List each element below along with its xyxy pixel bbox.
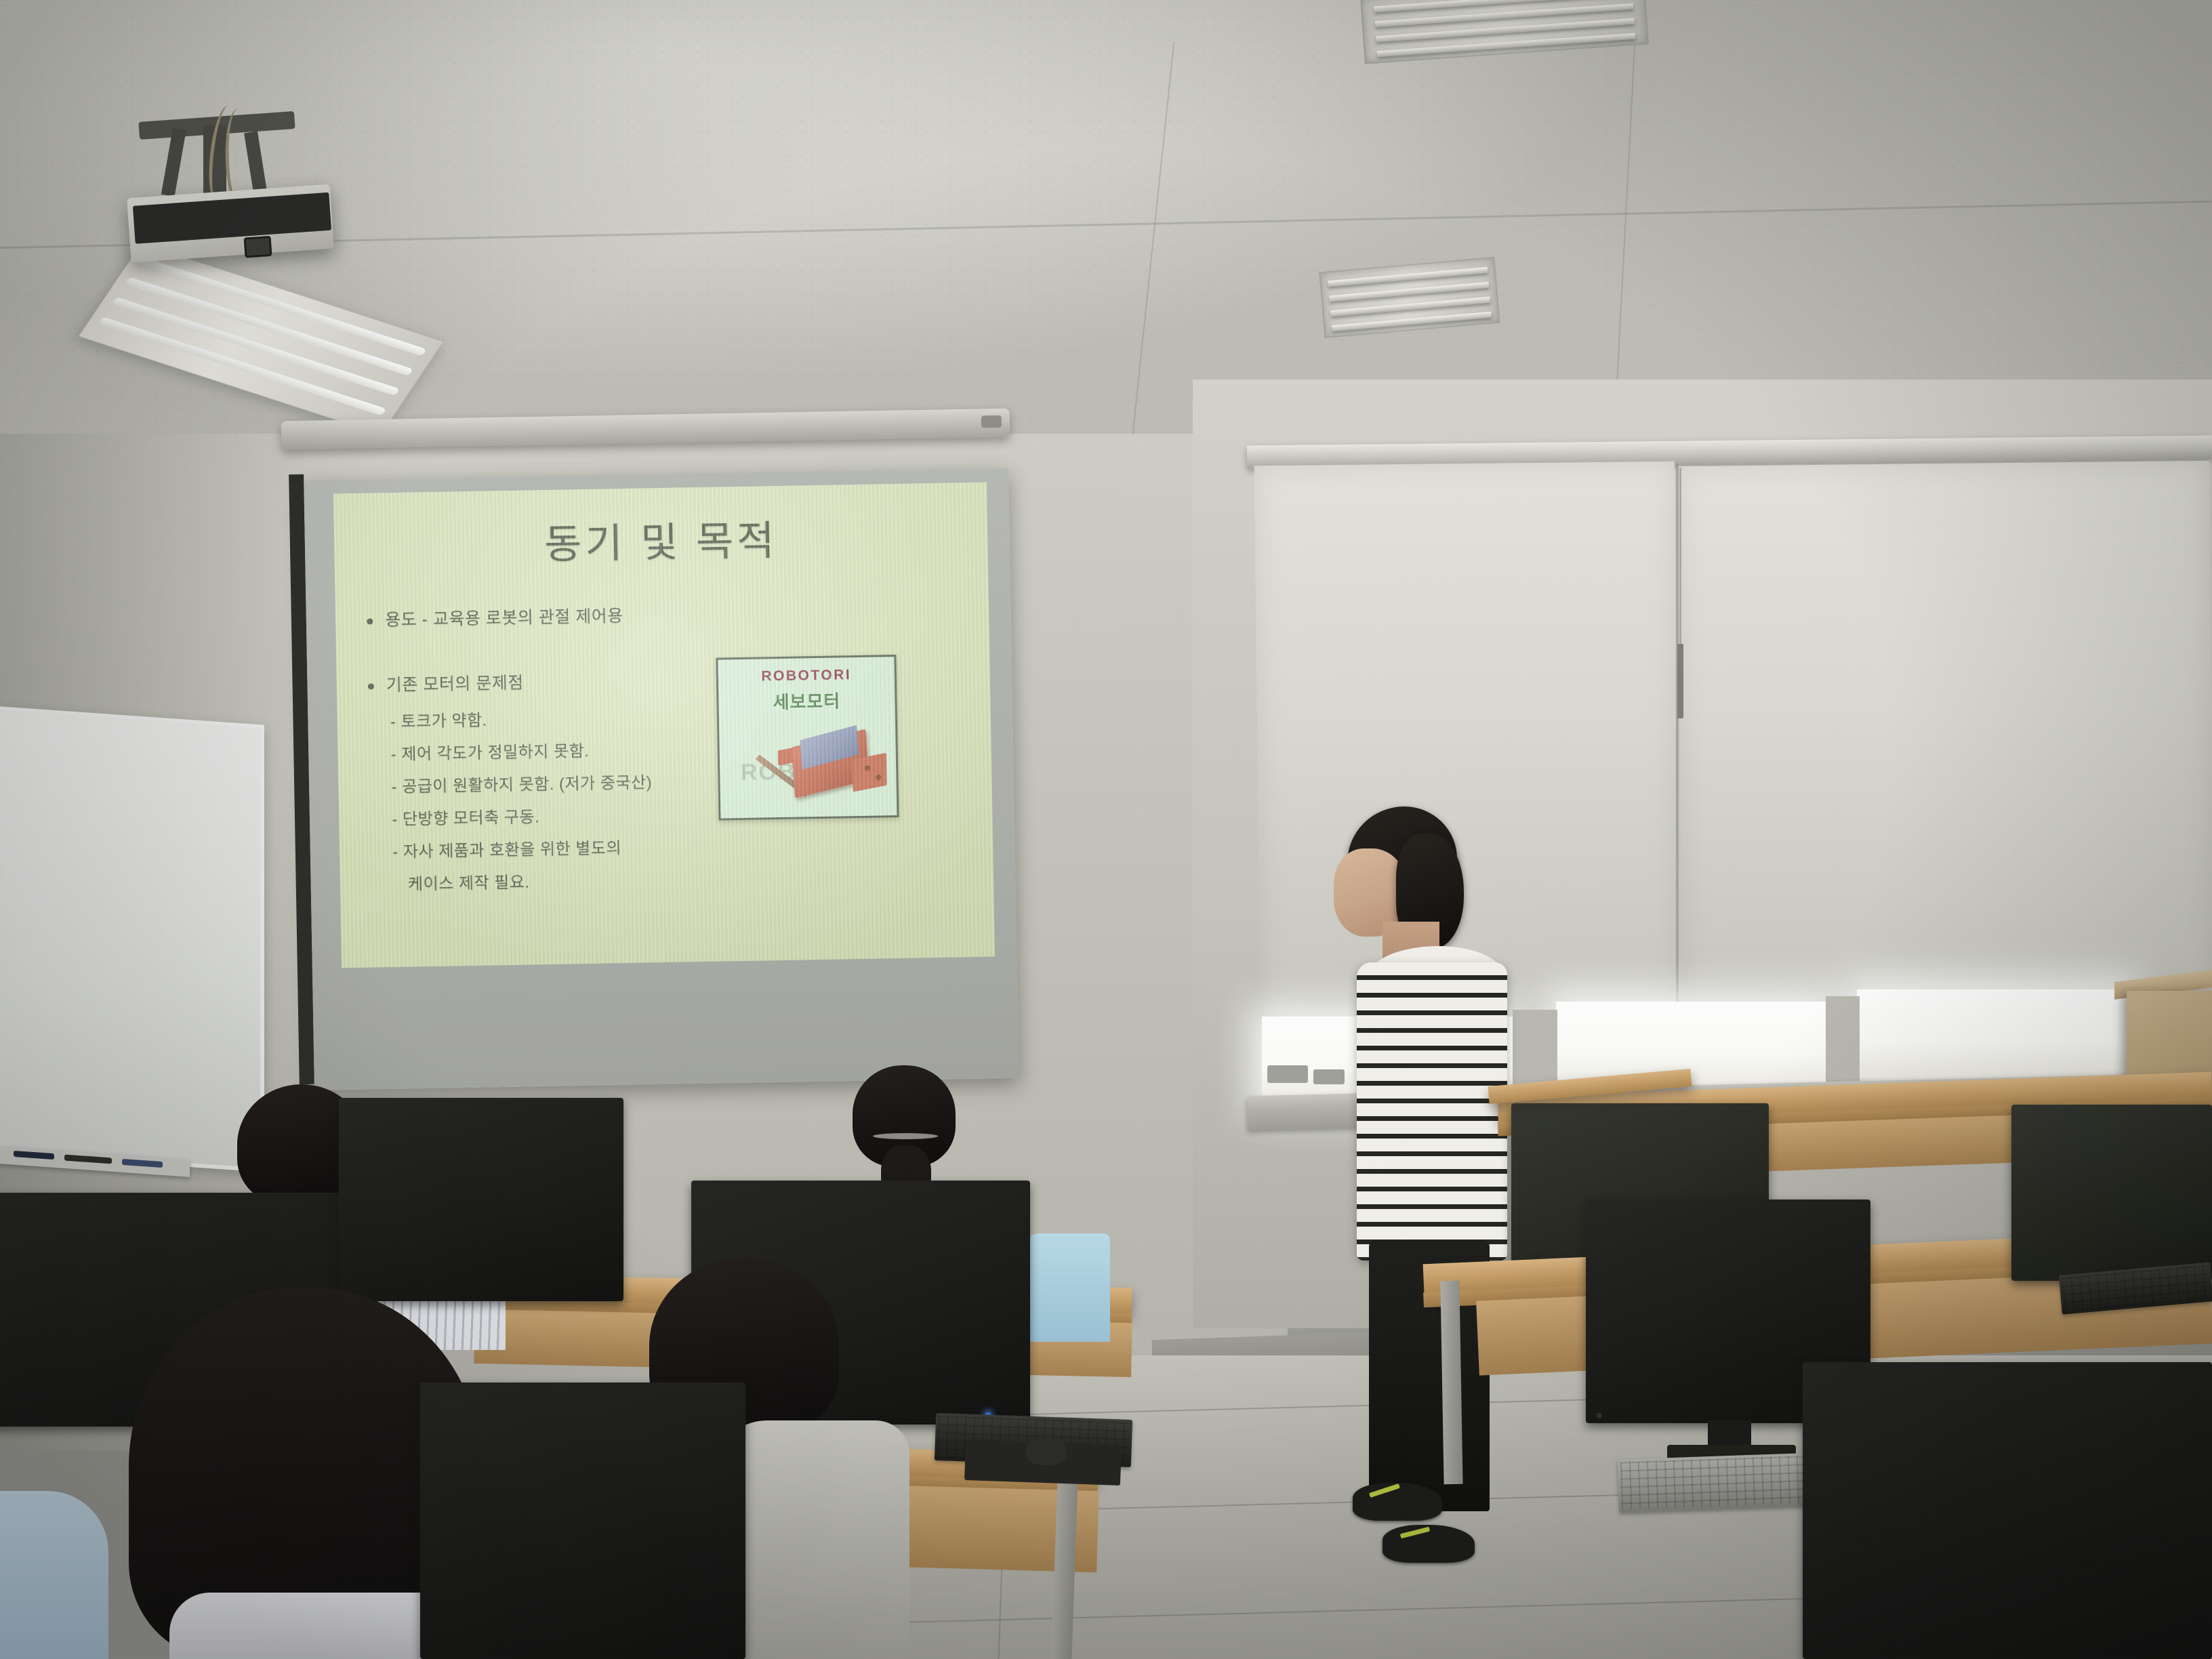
slide-sub-bullet: - 토크가 약함. [390,707,487,732]
blind-divider [1676,464,1679,1012]
motor-screw-hole [865,766,870,771]
product-brand-label: ROBOTORI [718,666,895,686]
presenter-shoe [1353,1483,1442,1521]
bullet-dot [368,683,374,689]
slide-sub-bullet: - 공급이 원활하지 못함. (저가 중국산) [391,769,652,797]
product-card: ROBOTORI 세보모터 ROBOTORI [716,655,899,821]
monitor-power-led [1597,1413,1602,1418]
window-blind-right[interactable] [1677,461,2212,1002]
window-mullion [1826,996,1860,1091]
shoe-lace [1400,1527,1430,1538]
sill-object [1267,1065,1308,1083]
slide-bullet-text: 용도 - 교육용 로봇의 관절 제어용 [385,607,623,630]
student-hairband [873,1133,938,1139]
slide-bullet: 기존 모터의 문제점 [368,670,524,697]
desk-leg [1440,1281,1462,1484]
slide-sub-bullet: - 자사 제품과 호환을 위한 별도의 [392,834,621,862]
window-pane [1857,989,2128,1078]
motor-mount-tab [853,753,887,792]
slide-sub-bullet: 케이스 제작 필요. [408,869,530,895]
blind-cord-weight[interactable] [1677,644,1683,718]
whiteboard [0,705,264,1172]
slide-sub-bullet: - 단방향 모터축 구동. [392,803,539,829]
screen-roller-knob[interactable] [981,415,1002,428]
presenter-striped-shirt [1357,962,1507,1261]
slide-sub-bullet: - 제어 각도가 정밀하지 못함. [390,737,589,764]
presenter-shoe [1382,1525,1475,1563]
product-subtitle-label: 세보모터 [718,687,895,715]
motor-screw-hole [876,775,881,780]
student-shirt [1025,1233,1110,1342]
monitor[interactable] [1803,1362,2212,1659]
slide-bullet: 용도 - 교육용 로봇의 관절 제어용 [367,602,623,632]
monitor[interactable] [339,1098,623,1301]
blind-pull-cord[interactable] [1679,468,1681,651]
mouse[interactable] [1026,1437,1067,1465]
projector-lens [244,236,272,258]
monitor[interactable] [2011,1105,2212,1281]
projector-lens-band [133,192,331,244]
window-blind-left[interactable] [1254,462,1681,1021]
student-shirt [0,1491,108,1659]
sill-object [1313,1069,1345,1084]
slide-title: 동기 및 목적 [334,504,988,575]
slide-bullet-text: 기존 모터의 문제점 [386,674,524,695]
projected-slide: 동기 및 목적 용도 - 교육용 로봇의 관절 제어용 기존 모터의 문제점 -… [333,483,995,968]
bullet-dot [367,618,373,624]
classroom-photo-scene: 동기 및 목적 용도 - 교육용 로봇의 관절 제어용 기존 모터의 문제점 -… [0,0,2212,1659]
student-shirt [169,1593,461,1659]
monitor[interactable] [420,1382,745,1659]
shoe-lace [1369,1483,1400,1498]
